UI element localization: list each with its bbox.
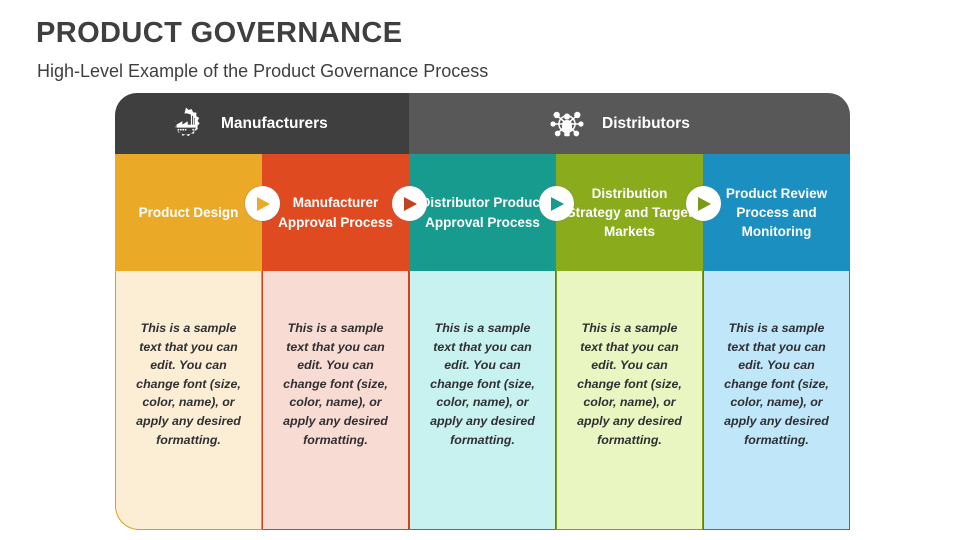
page-title: PRODUCT GOVERNANCE	[36, 17, 403, 50]
factory-gear-icon	[167, 105, 205, 143]
stage-columns: Product Design This is a sample text tha…	[115, 154, 850, 530]
page-subtitle: High-Level Example of the Product Govern…	[37, 61, 488, 82]
stage-column-product-review-process-and-monitoring: Product Review Process and Monitoring Th…	[703, 154, 850, 530]
stage-band: Distributor Product Approval Process	[409, 154, 556, 271]
triangle-glyph	[698, 197, 711, 211]
header-group-manufacturers: Manufacturers	[115, 93, 409, 154]
stage-label: Manufacturer Approval Process	[272, 193, 399, 231]
stage-column-distribution-strategy-and-target-markets: Distribution Strategy and Target Markets…	[556, 154, 703, 530]
header-group-label: Manufacturers	[221, 115, 328, 133]
header-group-label: Distributors	[602, 115, 690, 133]
stage-column-product-design: Product Design This is a sample text tha…	[115, 154, 262, 530]
stage-body-text: This is a sample text that you can edit.…	[720, 319, 833, 449]
stage-band: Product Review Process and Monitoring	[703, 154, 850, 271]
diagram-header-row: Manufacturers	[115, 93, 850, 154]
process-diagram: Manufacturers	[115, 93, 850, 530]
triangle-glyph	[551, 197, 564, 211]
stage-label: Distributor Product Approval Process	[419, 193, 546, 231]
stage-body-text: This is a sample text that you can edit.…	[573, 319, 686, 449]
network-person-icon	[548, 105, 586, 143]
play-arrow-icon-3[interactable]	[539, 186, 574, 221]
stage-label: Product Review Process and Monitoring	[713, 184, 840, 241]
play-arrow-icon-2[interactable]	[392, 186, 427, 221]
stage-body: This is a sample text that you can edit.…	[409, 271, 556, 530]
stage-body-text: This is a sample text that you can edit.…	[279, 319, 392, 449]
stage-body-text: This is a sample text that you can edit.…	[132, 319, 245, 449]
stage-label: Distribution Strategy and Target Markets	[566, 184, 693, 241]
stage-body: This is a sample text that you can edit.…	[262, 271, 409, 530]
stage-band: Distribution Strategy and Target Markets	[556, 154, 703, 271]
stage-body-text: This is a sample text that you can edit.…	[426, 319, 539, 449]
stage-band: Product Design	[115, 154, 262, 271]
stage-label: Product Design	[139, 203, 239, 222]
play-arrow-icon-1[interactable]	[245, 186, 280, 221]
stage-body: This is a sample text that you can edit.…	[703, 271, 850, 530]
triangle-glyph	[257, 197, 270, 211]
stage-body: This is a sample text that you can edit.…	[115, 271, 262, 530]
stage-band: Manufacturer Approval Process	[262, 154, 409, 271]
stage-column-distributor-product-approval-process: Distributor Product Approval Process Thi…	[409, 154, 556, 530]
triangle-glyph	[404, 197, 417, 211]
stage-body: This is a sample text that you can edit.…	[556, 271, 703, 530]
header-group-distributors: Distributors	[409, 93, 850, 154]
stage-column-manufacturer-approval-process: Manufacturer Approval Process This is a …	[262, 154, 409, 530]
play-arrow-icon-4[interactable]	[686, 186, 721, 221]
